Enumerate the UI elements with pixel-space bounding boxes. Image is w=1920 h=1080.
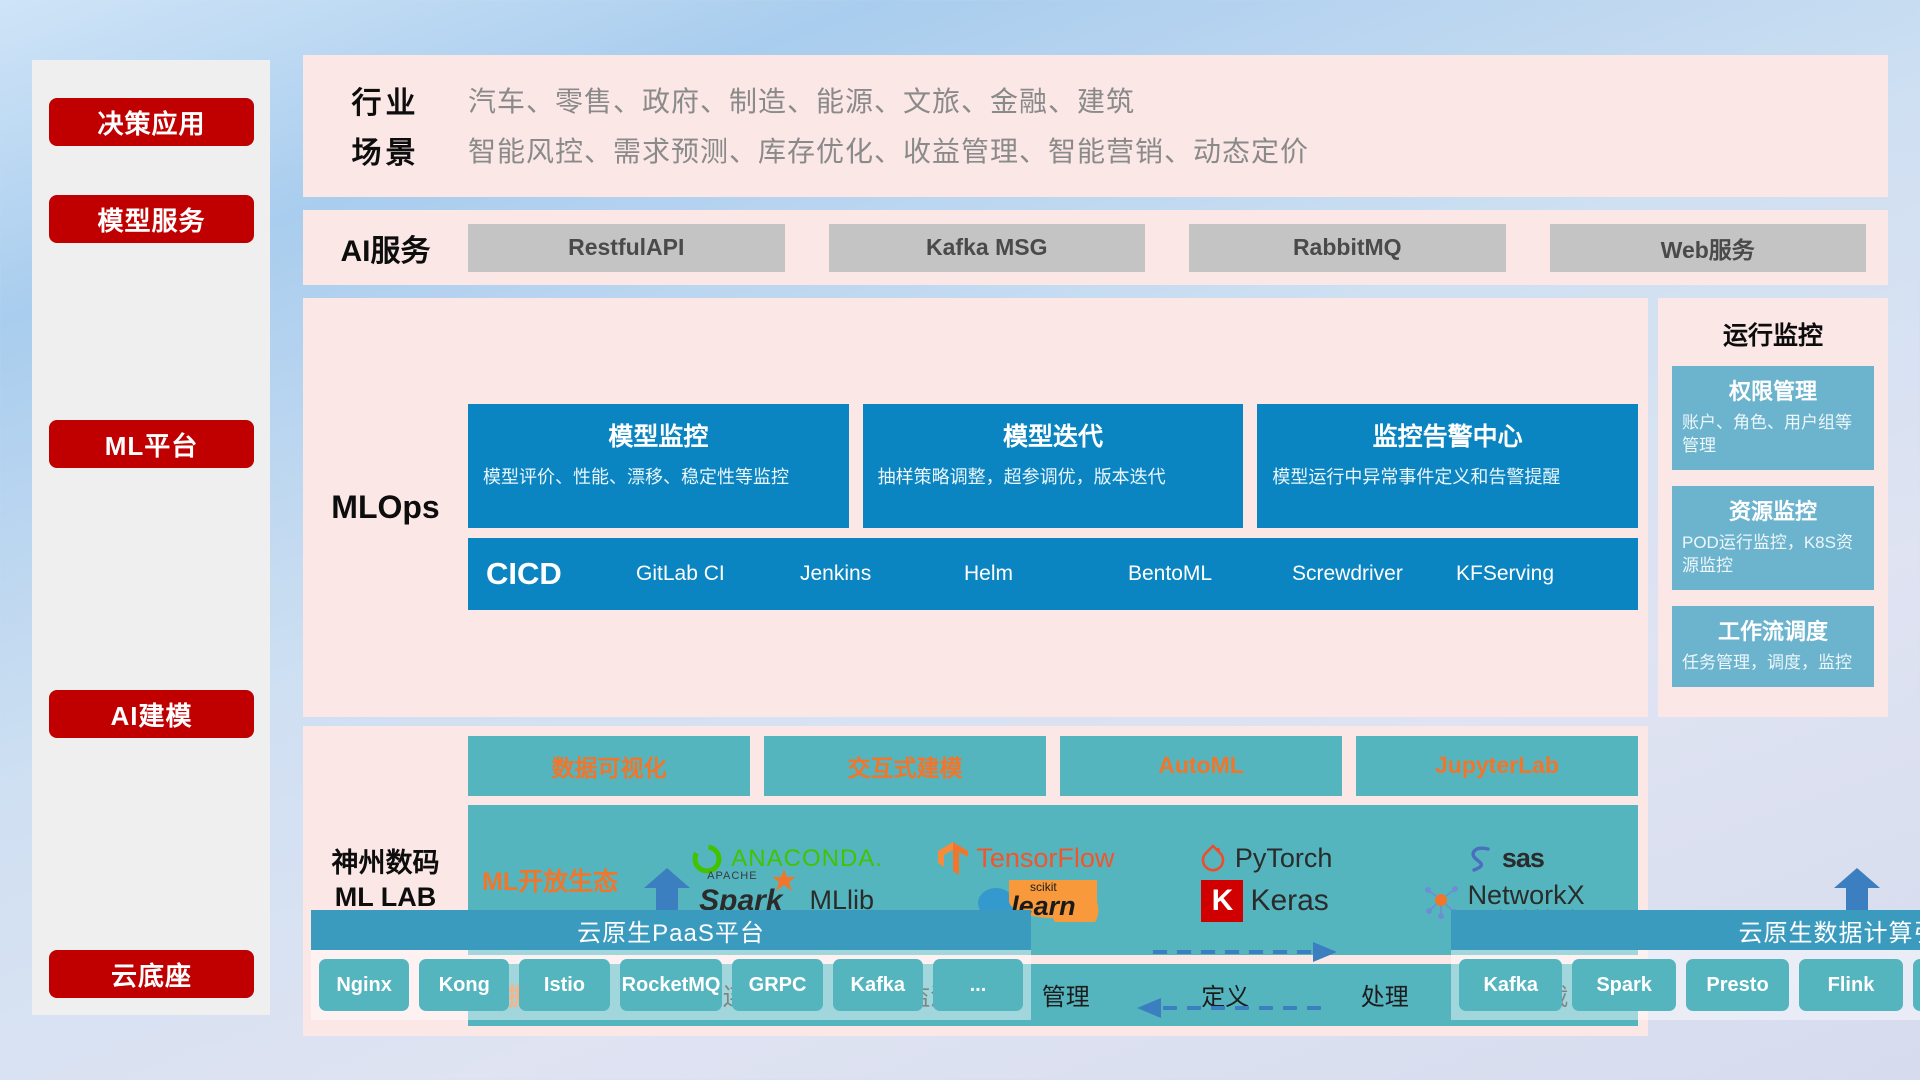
- cicd-item-gitlab-ci[interactable]: GitLab CI: [636, 562, 800, 586]
- monitor-card-title: 工作流调度: [1682, 614, 1864, 646]
- paas-chip-list: Nginx Kong Istio RocketMQ GRPC Kafka ...: [311, 950, 1031, 1020]
- tensorflow-mark-icon: [937, 841, 969, 877]
- paas-chip-grpc[interactable]: GRPC: [732, 959, 822, 1011]
- mlops-card-title: 模型监控: [483, 417, 834, 453]
- tensorflow-logo-text: TensorFlow: [976, 843, 1114, 874]
- mlops-card-list: 模型监控 模型评价、性能、漂移、稳定性等监控 模型迭代 抽样策略调整，超参调优，…: [468, 404, 1638, 528]
- ai-service-chip-restfulapi[interactable]: RestfulAPI: [468, 224, 785, 272]
- industry-values: 汽车、零售、政府、制造、能源、文旅、金融、建筑: [468, 80, 1135, 120]
- industry-scenario-panel: 行业 汽车、零售、政府、制造、能源、文旅、金融、建筑 场景 智能风控、需求预测、…: [303, 55, 1888, 197]
- pytorch-mark-icon: [1198, 842, 1228, 876]
- paas-panel: 云原生PaaS平台 Nginx Kong Istio RocketMQ GRPC…: [311, 910, 1031, 1020]
- bidirectional-link-arrows: [1021, 930, 1453, 1030]
- scenario-row: 场景 智能风控、需求预测、库存优化、收益管理、智能营销、动态定价: [303, 125, 1888, 175]
- rail-chip-ai-modeling[interactable]: AI建模: [49, 690, 254, 738]
- scenario-label: 场景: [303, 128, 468, 172]
- ai-service-chip-list: RestfulAPI Kafka MSG RabbitMQ Web服务: [468, 224, 1888, 272]
- main-column: 行业 汽车、零售、政府、制造、能源、文旅、金融、建筑 场景 智能风控、需求预测、…: [303, 55, 1888, 1036]
- cicd-item-jenkins[interactable]: Jenkins: [800, 562, 964, 586]
- runtime-monitor-panel: 运行监控 权限管理 账户、角色、用户组等管理 资源监控 POD运行监控，K8S资…: [1658, 298, 1888, 717]
- tool-chip-data-visualization[interactable]: 数据可视化: [468, 736, 750, 796]
- rail-chip-decision-app[interactable]: 决策应用: [49, 98, 254, 146]
- mlops-panel: MLOps 模型监控 模型评价、性能、漂移、稳定性等监控 模型迭代 抽样策略调整…: [303, 298, 1648, 717]
- engine-chip-hadoop[interactable]: Hadoop: [1913, 959, 1920, 1011]
- paas-chip-istio[interactable]: Istio: [519, 959, 609, 1011]
- cicd-bar: CICD GitLab CI Jenkins Helm BentoML Scre…: [468, 538, 1638, 610]
- ml-lab-label-line1: 神州数码: [303, 847, 468, 881]
- industry-row: 行业 汽车、零售、政府、制造、能源、文旅、金融、建筑: [303, 75, 1888, 125]
- mlops-card-title: 模型迭代: [878, 417, 1229, 453]
- monitor-card-title: 权限管理: [1682, 374, 1864, 406]
- cicd-item-kfserving[interactable]: KFServing: [1456, 562, 1620, 586]
- rail-chip-label: ML平台: [105, 426, 199, 463]
- monitor-card-desc: POD运行监控，K8S资源监控: [1682, 532, 1864, 578]
- engine-chip-kafka[interactable]: Kafka: [1459, 959, 1562, 1011]
- ml-lab-tool-list: 数据可视化 交互式建模 AutoML JupyterLab: [468, 736, 1638, 796]
- cicd-item-list: GitLab CI Jenkins Helm BentoML Screwdriv…: [636, 562, 1620, 586]
- mlops-card-desc: 模型运行中异常事件定义和告警提醒: [1272, 464, 1623, 490]
- industry-label: 行业: [303, 78, 468, 122]
- monitor-card-desc: 账户、角色、用户组等管理: [1682, 412, 1864, 458]
- engine-chip-spark[interactable]: Spark: [1572, 959, 1675, 1011]
- paas-chip-rocketmq[interactable]: RocketMQ: [620, 959, 723, 1011]
- architecture-diagram: 决策应用 模型服务 ML平台 AI建模 云底座 行业 汽车、零售、政府、制造、能…: [0, 0, 1920, 1080]
- paas-chip-kong[interactable]: Kong: [419, 959, 509, 1011]
- mlops-body: 模型监控 模型评价、性能、漂移、稳定性等监控 模型迭代 抽样策略调整，超参调优，…: [468, 404, 1648, 610]
- cicd-title: CICD: [486, 556, 636, 592]
- mlops-card-desc: 抽样策略调整，超参调优，版本迭代: [878, 464, 1229, 490]
- ml-platform-row: MLOps 模型监控 模型评价、性能、漂移、稳定性等监控 模型迭代 抽样策略调整…: [303, 298, 1888, 717]
- engine-chip-presto[interactable]: Presto: [1686, 959, 1789, 1011]
- monitor-card-permission[interactable]: 权限管理 账户、角色、用户组等管理: [1672, 366, 1874, 470]
- monitor-card-desc: 任务管理，调度，监控: [1682, 652, 1864, 675]
- arrow-up-data-engine-icon: [1833, 868, 1881, 910]
- mlops-card-model-iteration[interactable]: 模型迭代 抽样策略调整，超参调优，版本迭代: [863, 404, 1244, 528]
- runtime-monitor-title: 运行监控: [1672, 316, 1874, 352]
- paas-chip-kafka[interactable]: Kafka: [833, 959, 923, 1011]
- rail-chip-ml-platform[interactable]: ML平台: [49, 420, 254, 468]
- paas-panel-title: 云原生PaaS平台: [311, 910, 1031, 950]
- mlops-label: MLOps: [303, 489, 468, 526]
- mlops-card-title: 监控告警中心: [1272, 417, 1623, 453]
- cicd-item-screwdriver[interactable]: Screwdriver: [1292, 562, 1456, 586]
- monitor-card-title: 资源监控: [1682, 494, 1864, 526]
- tool-chip-interactive-modeling[interactable]: 交互式建模: [764, 736, 1046, 796]
- pytorch-logo-text: PyTorch: [1235, 843, 1333, 874]
- monitor-card-workflow[interactable]: 工作流调度 任务管理，调度，监控: [1672, 606, 1874, 687]
- rail-chip-model-service[interactable]: 模型服务: [49, 195, 254, 243]
- cloud-base-section: 云原生PaaS平台 Nginx Kong Istio RocketMQ GRPC…: [303, 890, 1888, 1055]
- monitor-card-resource[interactable]: 资源监控 POD运行监控，K8S资源监控: [1672, 486, 1874, 590]
- data-engine-panel: 云原生数据计算引擎 Kafka Spark Presto Flink Hadoo…: [1451, 910, 1920, 1020]
- pytorch-logo: PyTorch: [1146, 842, 1385, 876]
- rail-chip-label: 模型服务: [97, 201, 205, 238]
- link-arrows-icon: [1021, 930, 1453, 1030]
- sas-logo-text: sas: [1502, 843, 1544, 874]
- tensorflow-logo: TensorFlow: [906, 841, 1145, 877]
- mlops-card-desc: 模型评价、性能、漂移、稳定性等监控: [483, 464, 834, 490]
- cicd-item-bentoml[interactable]: BentoML: [1128, 562, 1292, 586]
- rail-chip-label: AI建模: [110, 696, 192, 733]
- apache-label: APACHE: [707, 870, 757, 882]
- arrow-up-paas-icon: [643, 868, 691, 910]
- engine-chip-flink[interactable]: Flink: [1799, 959, 1902, 1011]
- ai-service-chip-web-service[interactable]: Web服务: [1550, 224, 1867, 272]
- tool-chip-jupyterlab[interactable]: JupyterLab: [1356, 736, 1638, 796]
- mlops-card-alert-center[interactable]: 监控告警中心 模型运行中异常事件定义和告警提醒: [1257, 404, 1638, 528]
- ai-service-label: AI服务: [303, 226, 468, 270]
- paas-chip-more[interactable]: ...: [933, 959, 1023, 1011]
- tool-chip-automl[interactable]: AutoML: [1060, 736, 1342, 796]
- rail-chip-label: 决策应用: [97, 104, 205, 141]
- mlops-card-model-monitoring[interactable]: 模型监控 模型评价、性能、漂移、稳定性等监控: [468, 404, 849, 528]
- sas-mark-icon: [1465, 843, 1495, 875]
- sas-logo: sas: [1385, 843, 1624, 875]
- ai-service-chip-kafka-msg[interactable]: Kafka MSG: [829, 224, 1146, 272]
- cicd-item-helm[interactable]: Helm: [964, 562, 1128, 586]
- rail-chip-cloud-base[interactable]: 云底座: [49, 950, 254, 998]
- paas-chip-nginx[interactable]: Nginx: [319, 959, 409, 1011]
- layer-rail: 决策应用 模型服务 ML平台 AI建模 云底座: [32, 60, 270, 1015]
- anaconda-logo-text: ANACONDA.: [731, 845, 883, 873]
- ai-service-panel: AI服务 RestfulAPI Kafka MSG RabbitMQ Web服务: [303, 210, 1888, 285]
- data-engine-panel-title: 云原生数据计算引擎: [1451, 910, 1920, 950]
- scenario-values: 智能风控、需求预测、库存优化、收益管理、智能营销、动态定价: [468, 130, 1309, 170]
- ai-service-chip-rabbitmq[interactable]: RabbitMQ: [1189, 224, 1506, 272]
- rail-chip-label: 云底座: [111, 956, 192, 993]
- data-engine-chip-list: Kafka Spark Presto Flink Hadoop Storm ..…: [1451, 950, 1920, 1020]
